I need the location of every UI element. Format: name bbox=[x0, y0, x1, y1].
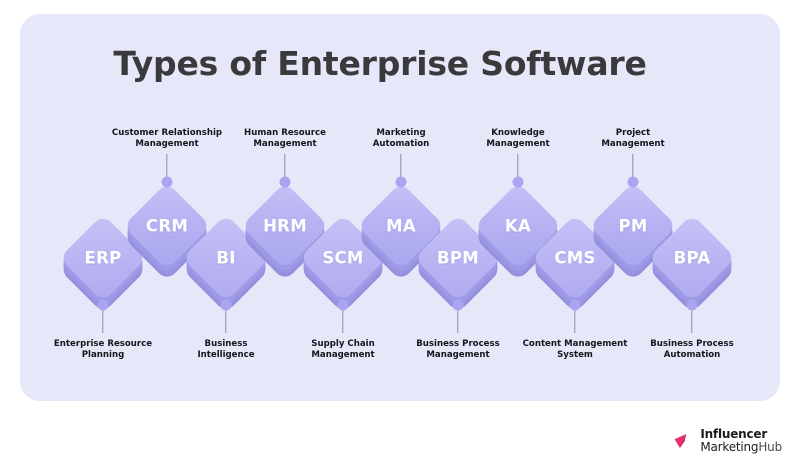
diamond-label-cms: CMS bbox=[554, 249, 595, 268]
node-label-line2-ka: Management bbox=[486, 139, 549, 150]
infographic-canvas: Types of Enterprise Software ERPEnterpri… bbox=[0, 0, 800, 469]
node-label-crm: Customer RelationshipManagement bbox=[112, 128, 222, 151]
node-label-line2-pm: Management bbox=[601, 139, 664, 150]
enterprise-software-diagram: ERPEnterprise ResourcePlanningCRMCustome… bbox=[0, 0, 800, 469]
brand-logo[interactable]: Influencer MarketingHub bbox=[673, 428, 782, 453]
connector-dot-ka bbox=[513, 177, 524, 188]
node-label-bi: BusinessIntelligence bbox=[197, 339, 254, 362]
diamond-label-erp: ERP bbox=[85, 249, 122, 268]
node-label-line2-bpm: Management bbox=[416, 350, 500, 361]
node-label-line2-ma: Automation bbox=[373, 139, 430, 150]
node-label-line1-erp: Enterprise Resource bbox=[54, 339, 152, 350]
diamond-label-pm: PM bbox=[618, 217, 647, 236]
connector-dot-scm bbox=[338, 300, 349, 311]
connector-dot-bi bbox=[221, 300, 232, 311]
node-label-line2-erp: Planning bbox=[54, 350, 152, 361]
connector-dot-pm bbox=[628, 177, 639, 188]
node-label-pm: ProjectManagement bbox=[601, 128, 664, 151]
node-label-line2-crm: Management bbox=[112, 139, 222, 150]
node-label-ka: KnowledgeManagement bbox=[486, 128, 549, 151]
brand-line-2-light: Hub bbox=[758, 440, 782, 454]
diamond-label-bpa: BPA bbox=[674, 249, 711, 268]
node-label-ma: MarketingAutomation bbox=[373, 128, 430, 151]
node-label-line2-hrm: Management bbox=[244, 139, 326, 150]
brand-logo-text: Influencer MarketingHub bbox=[700, 428, 782, 453]
connector-dot-ma bbox=[396, 177, 407, 188]
node-label-line1-pm: Project bbox=[601, 128, 664, 139]
node-label-erp: Enterprise ResourcePlanning bbox=[54, 339, 152, 362]
node-label-line2-scm: Management bbox=[311, 350, 374, 361]
connector-dot-hrm bbox=[280, 177, 291, 188]
node-label-cms: Content ManagementSystem bbox=[523, 339, 628, 362]
node-label-line1-ma: Marketing bbox=[373, 128, 430, 139]
node-label-line2-bi: Intelligence bbox=[197, 350, 254, 361]
diamond-label-ma: MA bbox=[386, 217, 416, 236]
diamond-label-hrm: HRM bbox=[263, 217, 307, 236]
diamond-label-bpm: BPM bbox=[437, 249, 479, 268]
connector-dot-bpa bbox=[687, 300, 698, 311]
node-label-hrm: Human ResourceManagement bbox=[244, 128, 326, 151]
diamond-label-crm: CRM bbox=[146, 217, 188, 236]
node-label-line1-bi: Business bbox=[197, 339, 254, 350]
node-label-line1-bpa: Business Process bbox=[650, 339, 734, 350]
connector-dot-cms bbox=[570, 300, 581, 311]
node-label-line1-scm: Supply Chain bbox=[311, 339, 374, 350]
node-label-bpa: Business ProcessAutomation bbox=[650, 339, 734, 362]
connector-dot-erp bbox=[98, 300, 109, 311]
node-label-line2-bpa: Automation bbox=[650, 350, 734, 361]
connector-dot-crm bbox=[162, 177, 173, 188]
node-label-line1-crm: Customer Relationship bbox=[112, 128, 222, 139]
node-label-line1-hrm: Human Resource bbox=[244, 128, 326, 139]
node-label-scm: Supply ChainManagement bbox=[311, 339, 374, 362]
diamond-label-bi: BI bbox=[216, 249, 235, 268]
node-label-line1-bpm: Business Process bbox=[416, 339, 500, 350]
node-label-line1-ka: Knowledge bbox=[486, 128, 549, 139]
connector-dot-bpm bbox=[453, 300, 464, 311]
brand-line-2-bold: Marketing bbox=[700, 440, 758, 454]
diamond-label-scm: SCM bbox=[322, 249, 363, 268]
brand-line-2: MarketingHub bbox=[700, 441, 782, 454]
node-label-line2-cms: System bbox=[523, 350, 628, 361]
play-arrow-left-icon bbox=[673, 430, 695, 452]
node-label-line1-cms: Content Management bbox=[523, 339, 628, 350]
diamond-label-ka: KA bbox=[505, 217, 531, 236]
node-label-bpm: Business ProcessManagement bbox=[416, 339, 500, 362]
